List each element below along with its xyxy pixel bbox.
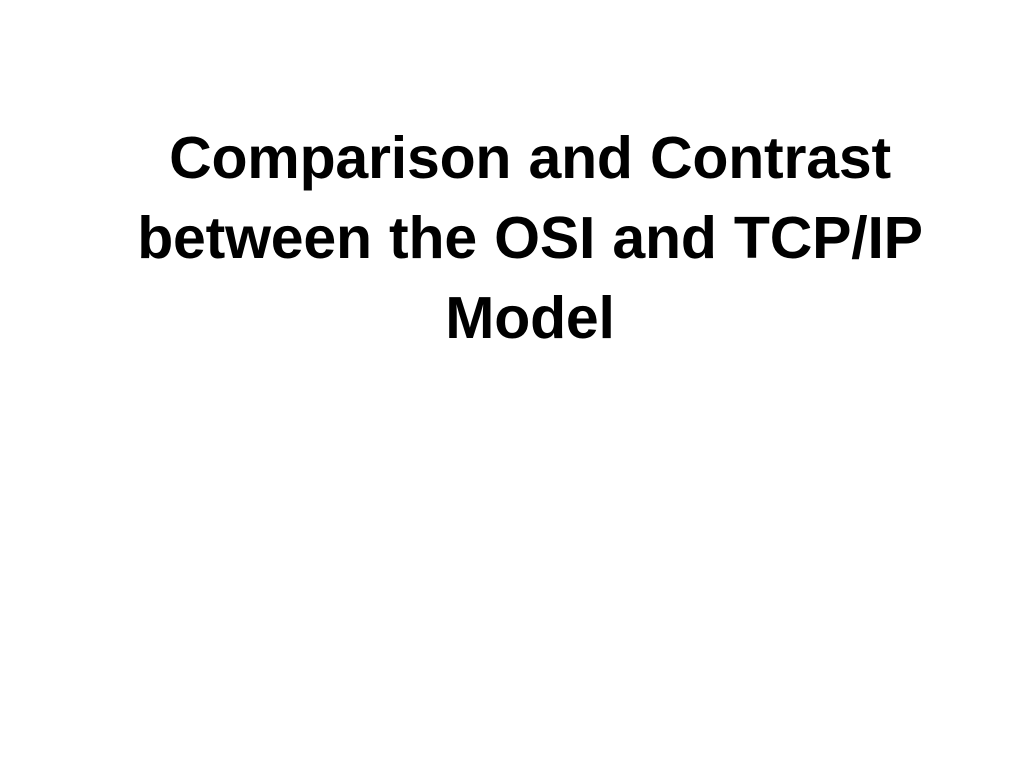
body-placeholder[interactable]	[74, 392, 986, 692]
slide-canvas: Comparison and Contrast between the OSI …	[0, 0, 1024, 768]
page-title: Comparison and Contrast between the OSI …	[74, 118, 986, 358]
title-line-2: between the OSI and TCP/IP	[74, 198, 986, 278]
title-line-1: Comparison and Contrast	[74, 118, 986, 198]
title-line-3: Model	[74, 278, 986, 358]
title-placeholder[interactable]: Comparison and Contrast between the OSI …	[74, 118, 986, 358]
